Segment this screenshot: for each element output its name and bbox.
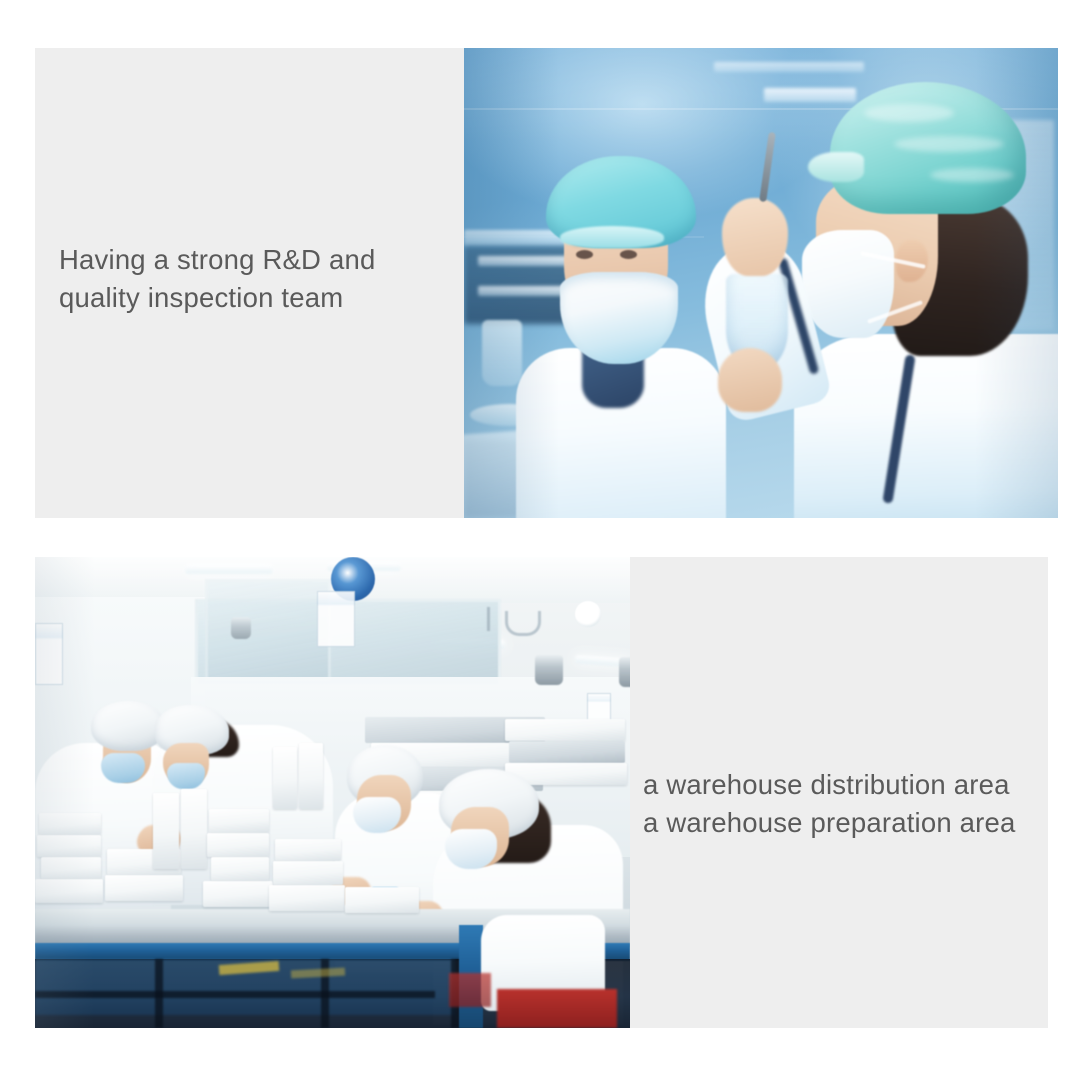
carton xyxy=(273,861,343,885)
lab-rack xyxy=(764,88,856,102)
worker-red-garment xyxy=(497,989,617,1028)
warehouse-packing-photo xyxy=(35,557,630,1028)
hairnet-fold xyxy=(930,168,1014,182)
wall-poster xyxy=(35,623,63,685)
section-rnd-quality: Having a strong R&D and quality inspecti… xyxy=(35,48,1058,518)
caption-warehouse-areas: a warehouse distribution area a warehous… xyxy=(630,766,1022,842)
carton-upright xyxy=(153,793,179,869)
steel-container xyxy=(231,617,251,639)
carton xyxy=(105,875,183,901)
wall-poster xyxy=(317,591,355,647)
hairnet-fold xyxy=(864,104,954,122)
technician-a-eye xyxy=(576,250,593,259)
table-leg xyxy=(155,959,163,1028)
carton xyxy=(37,835,101,857)
carton-upright xyxy=(273,747,297,809)
technician-b-hairnet-brim xyxy=(808,152,864,182)
section-warehouse-areas: a warehouse distribution area a warehous… xyxy=(35,557,1048,1028)
caption-panel-top: Having a strong R&D and quality inspecti… xyxy=(35,48,464,518)
carton-upright xyxy=(299,743,323,809)
hanging-hook xyxy=(505,611,541,636)
worker-1-face-mask xyxy=(101,753,145,783)
carton xyxy=(345,887,419,913)
carton xyxy=(35,879,103,903)
technician-a-eye xyxy=(620,250,637,259)
technician-b-coat xyxy=(794,334,1058,518)
carton xyxy=(203,881,273,907)
carton xyxy=(275,839,341,861)
caption-panel-bottom: a warehouse distribution area a warehous… xyxy=(630,557,1048,1028)
technician-a-hairnet-brim xyxy=(560,226,664,248)
worker-4-face-mask xyxy=(445,829,497,869)
worker-1-hairnet xyxy=(91,701,165,751)
caption-rnd-quality: Having a strong R&D and quality inspecti… xyxy=(35,241,385,317)
carton xyxy=(39,813,101,835)
steel-container xyxy=(619,657,630,687)
carton xyxy=(211,857,269,881)
ceiling-light xyxy=(185,565,273,574)
lab-glass-jar xyxy=(482,320,522,386)
technician-hand-lower xyxy=(718,348,782,412)
carton-stack xyxy=(509,741,625,763)
table-cross-beam xyxy=(35,991,435,998)
page-root: Having a strong R&D and quality inspecti… xyxy=(0,0,1080,1080)
hanging-rod xyxy=(487,607,490,631)
carton xyxy=(207,833,269,857)
lab-technicians-photo xyxy=(464,48,1058,518)
carton xyxy=(269,885,345,911)
cleanroom-window xyxy=(205,579,331,681)
carton-stack xyxy=(505,719,625,741)
worker-2-face-mask xyxy=(167,763,205,789)
technician-b-face-mask xyxy=(802,230,894,338)
lab-rack xyxy=(714,62,864,72)
worker-3-face-mask xyxy=(353,797,401,833)
carton xyxy=(41,857,101,879)
carton-upright xyxy=(181,789,207,869)
technician-hand-upper xyxy=(722,198,788,276)
wall-clock-icon xyxy=(575,601,601,627)
worker-red-garment xyxy=(449,973,491,1007)
hairnet-fold xyxy=(894,136,1004,152)
carton xyxy=(209,809,269,833)
steel-container xyxy=(535,655,563,685)
